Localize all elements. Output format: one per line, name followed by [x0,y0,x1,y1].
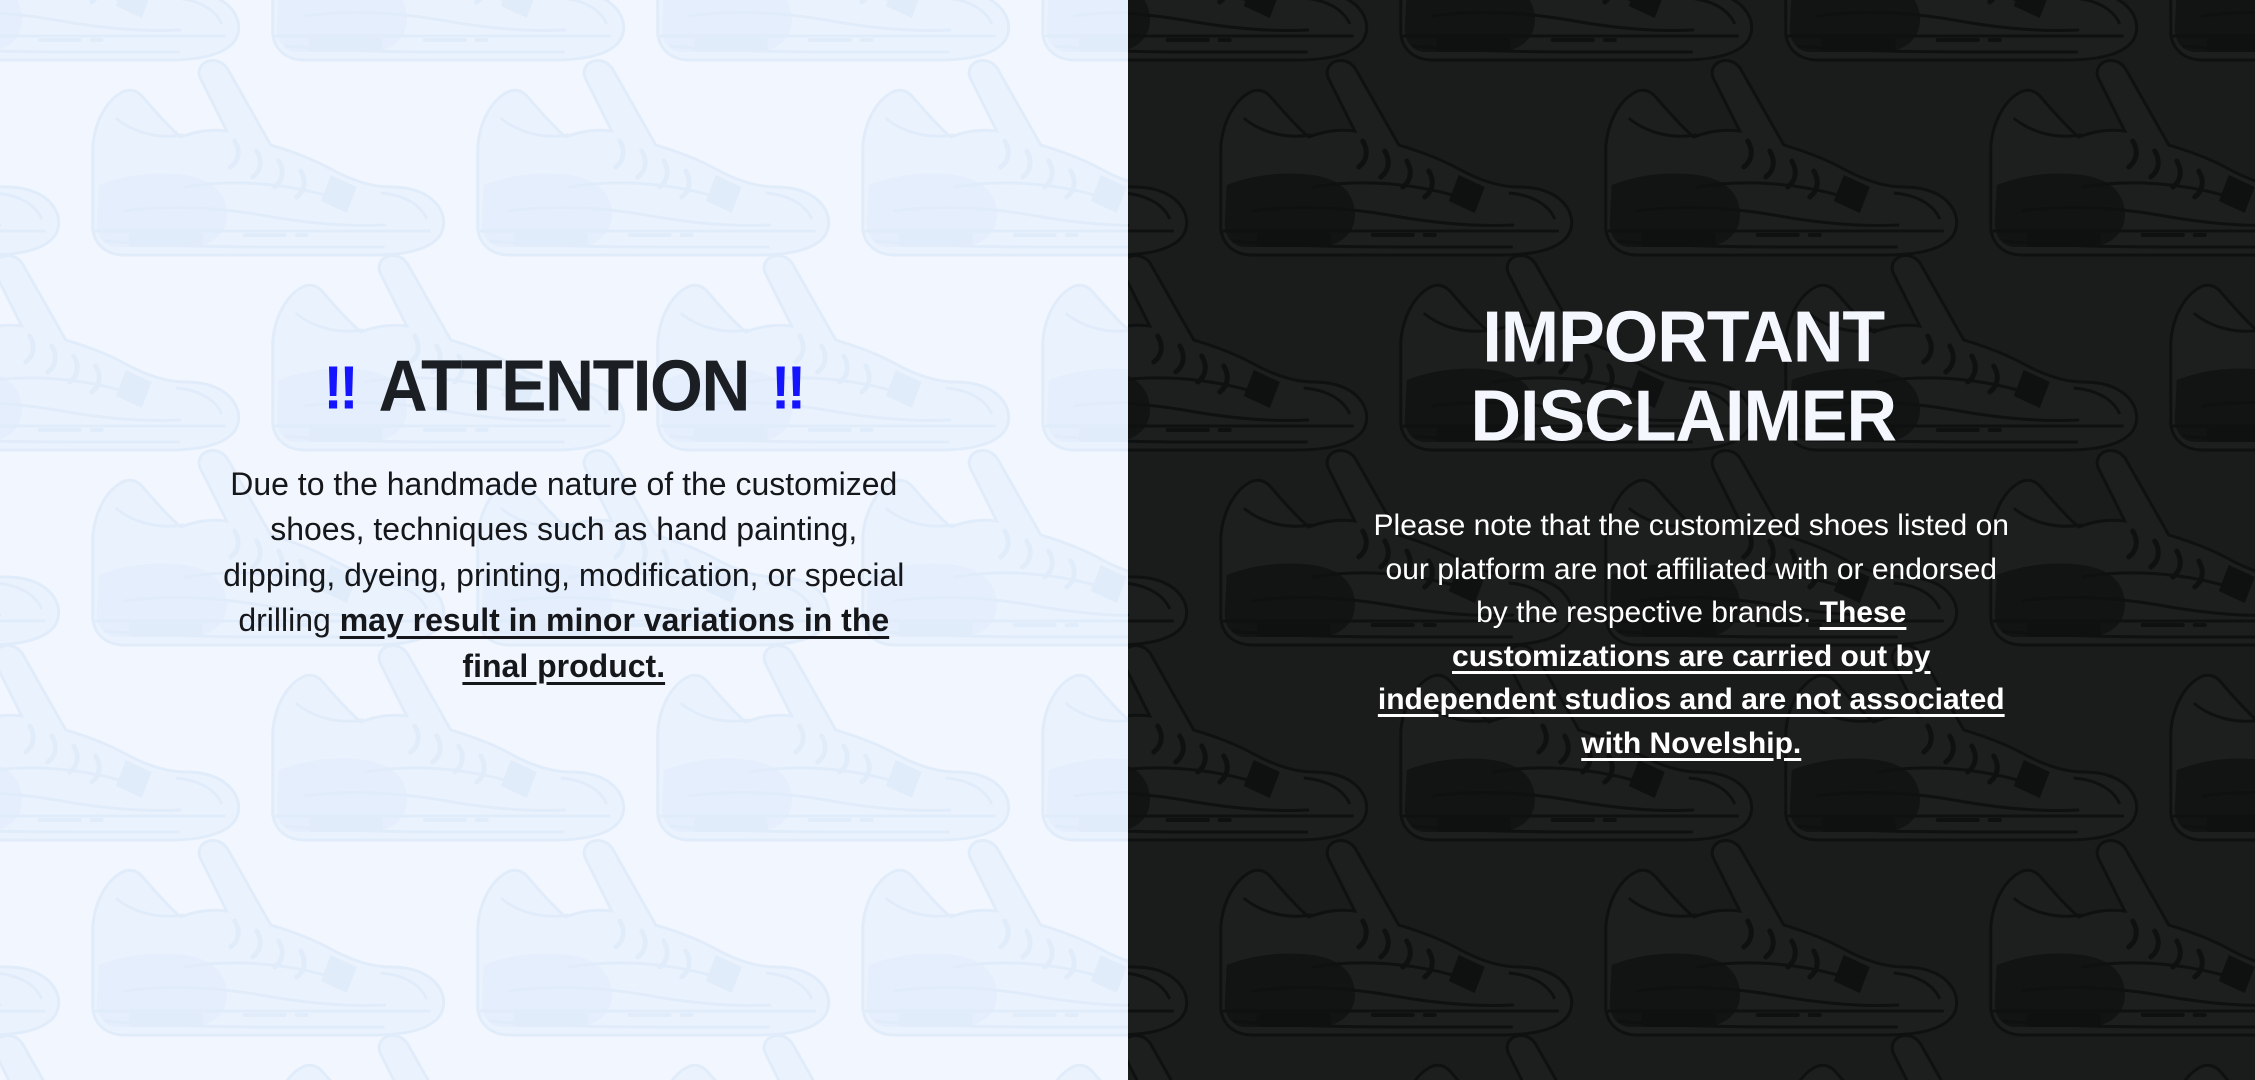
attention-panel: ‼ATTENTION‼ Due to the handmade nature o… [0,0,1128,1080]
disclaimer-panel: IMPORTANT DISCLAIMER Please note that th… [1128,0,2255,1080]
disclaimer-content: IMPORTANT DISCLAIMER Please note that th… [1128,0,2255,1080]
attention-heading: ‼ATTENTION‼ [0,350,1128,422]
attention-content: ‼ATTENTION‼ Due to the handmade nature o… [0,0,1128,1080]
disclaimer-heading-line1: IMPORTANT [1128,300,2248,373]
attention-heading-label: ATTENTION [378,346,749,427]
double-exclamation-icon-left: ‼ [323,357,356,418]
disclaimer-banner: ‼ATTENTION‼ Due to the handmade nature o… [0,0,2255,1080]
attention-body-emphasis: may result in minor variations in the fi… [340,602,889,683]
double-exclamation-icon-right: ‼ [771,357,804,418]
disclaimer-body: Please note that the customized shoes li… [1371,504,2011,765]
disclaimer-heading-line2: DISCLAIMER [1128,379,2248,452]
disclaimer-heading: IMPORTANT DISCLAIMER [1128,300,2248,452]
disclaimer-body-plain: Please note that the customized shoes li… [1374,509,2009,629]
attention-body: Due to the handmade nature of the custom… [214,462,914,689]
